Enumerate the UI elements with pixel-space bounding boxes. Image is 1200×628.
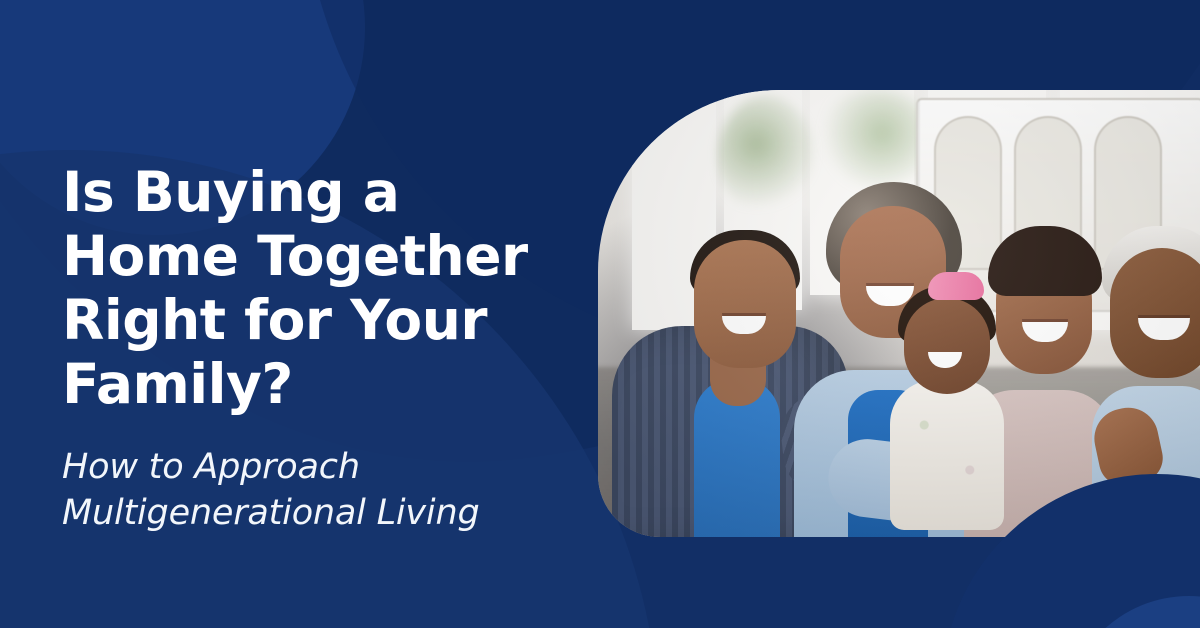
baby-face	[904, 298, 990, 394]
headline: Is Buying a Home Together Right for Your…	[62, 160, 582, 416]
promo-banner: Is Buying a Home Together Right for Your…	[0, 0, 1200, 628]
baby-pink-bow	[928, 272, 984, 300]
subheadline: How to Approach Multigenerational Living	[62, 444, 582, 536]
family-photo	[598, 90, 1200, 537]
man-face	[694, 240, 796, 368]
text-block: Is Buying a Home Together Right for Your…	[62, 160, 582, 536]
family-photo-image	[598, 90, 1200, 537]
baby-onesie	[890, 380, 1004, 530]
foliage-blur-1	[718, 96, 814, 216]
grandfather-face	[1110, 248, 1200, 378]
